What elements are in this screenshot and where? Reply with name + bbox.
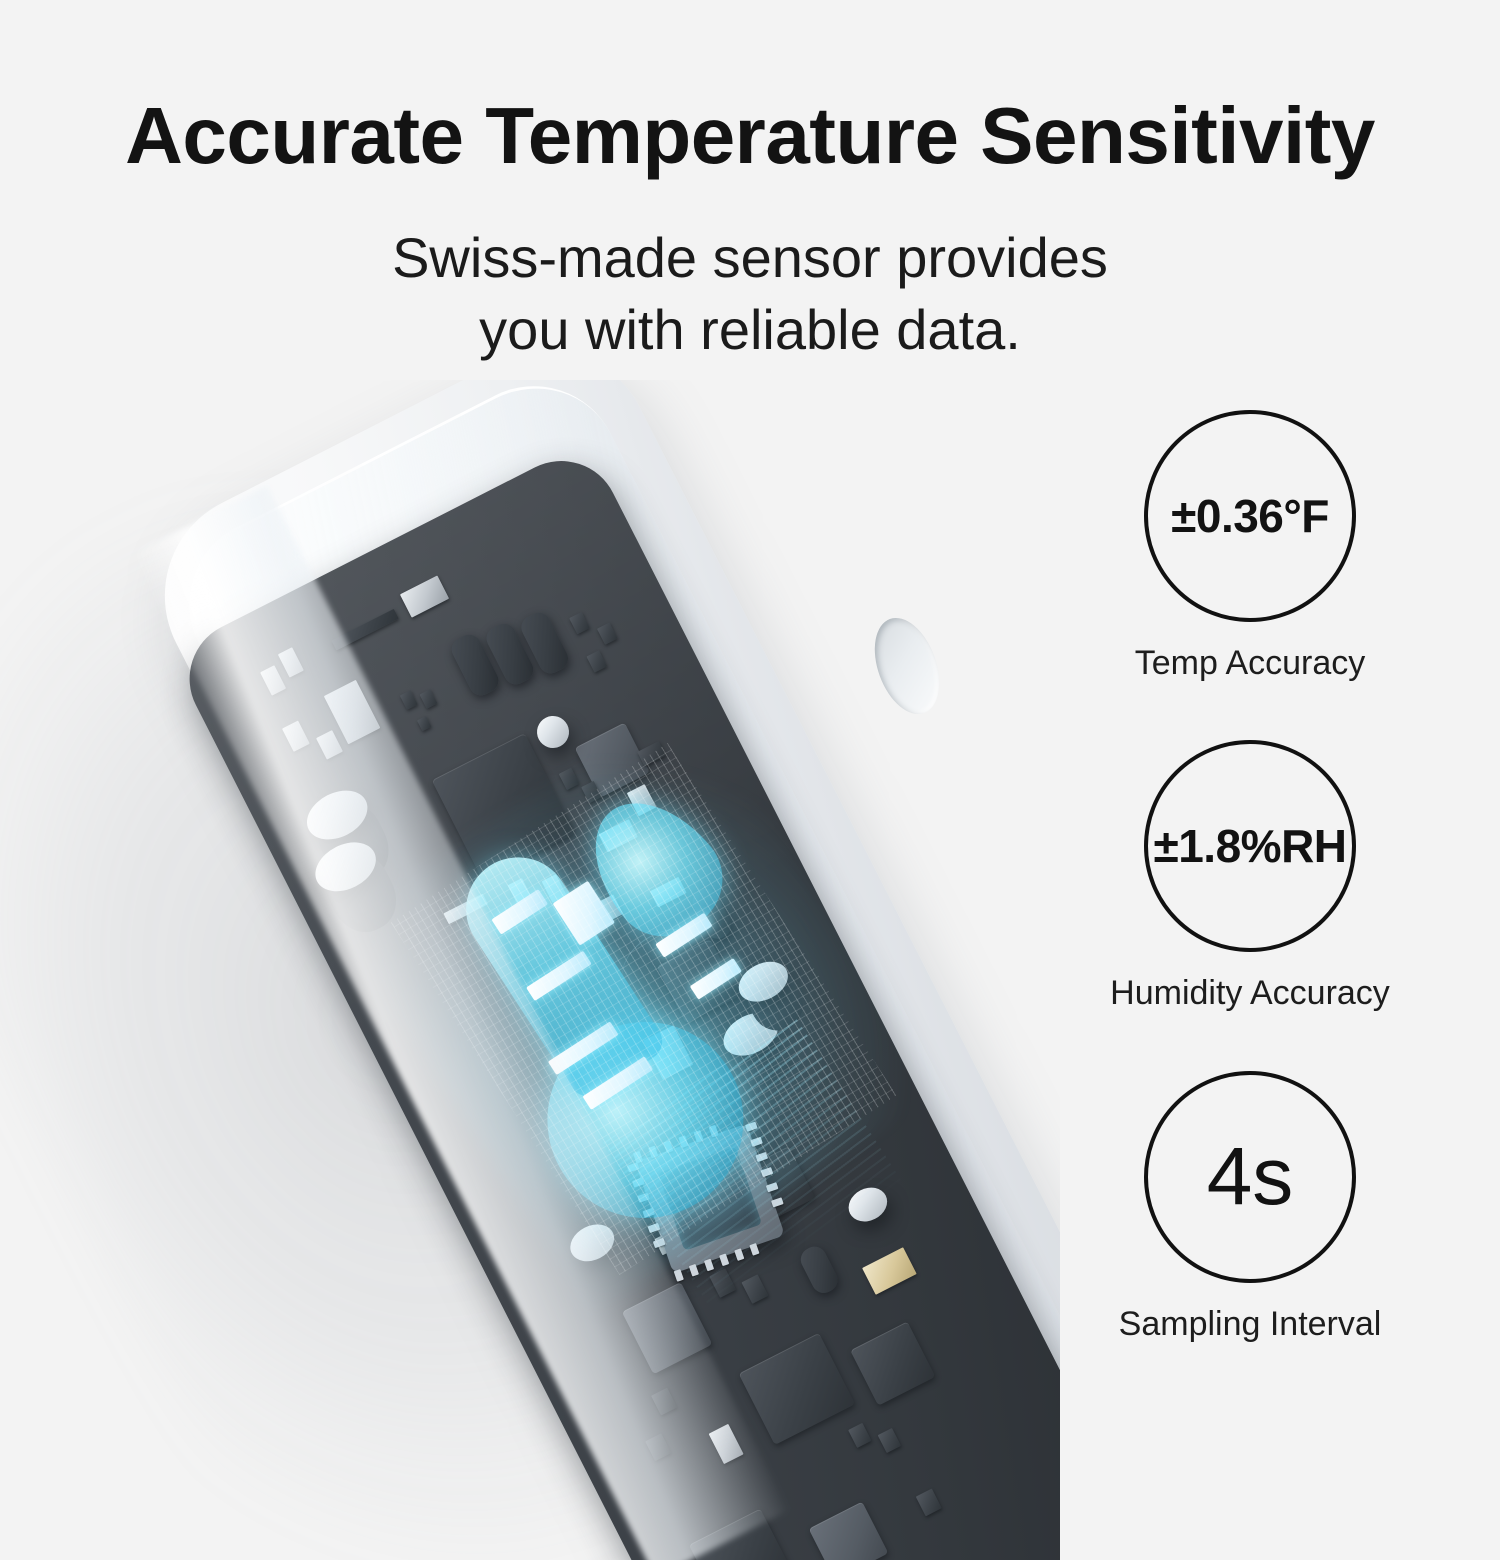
smd-fuse [862,1247,917,1295]
ic-chip [850,1321,935,1405]
spec-badge-humidity-accuracy: ±1.8%RH Humidity Accuracy [1015,740,1485,1013]
smd-resistor [709,1268,736,1298]
ic-chip [809,1502,889,1560]
spec-badge-list: ±0.36°F Temp Accuracy ±1.8%RH Humidity A… [1015,410,1485,1420]
badge-circle: ±1.8%RH [1144,740,1356,952]
badge-value: ±0.36°F [1171,489,1329,543]
hologram-bar [582,1056,653,1110]
smd-capacitor [643,1025,693,1080]
smd-resistor [741,1274,768,1304]
subtitle-line-1: Swiss-made sensor provides [0,222,1500,294]
inductor [797,1242,842,1297]
smd-resistor [848,1423,871,1448]
badge-circle: ±0.36°F [1144,410,1356,622]
badge-label: Temp Accuracy [1015,644,1485,683]
page-title: Accurate Temperature Sensitivity [0,96,1500,176]
page-subtitle: Swiss-made sensor provides you with reli… [0,222,1500,365]
badge-value: ±1.8%RH [1153,819,1346,873]
product-image [0,380,1060,1560]
badge-label: Sampling Interval [1015,1305,1485,1344]
spec-badge-temp-accuracy: ±0.36°F Temp Accuracy [1015,410,1485,683]
smd-resistor [878,1428,901,1453]
badge-circle: 4s [1144,1071,1356,1283]
housing-vent-hole [863,609,952,723]
badge-value: 4s [1207,1130,1294,1224]
smd-led [843,1181,893,1228]
subtitle-line-2: you with reliable data. [0,294,1500,366]
ic-chip [739,1333,856,1445]
product-feature-banner: Accurate Temperature Sensitivity Swiss-m… [0,0,1500,1500]
smd-resistor [916,1488,942,1516]
badge-label: Humidity Accuracy [1015,974,1485,1013]
spec-badge-sampling-interval: 4s Sampling Interval [1015,1071,1485,1344]
